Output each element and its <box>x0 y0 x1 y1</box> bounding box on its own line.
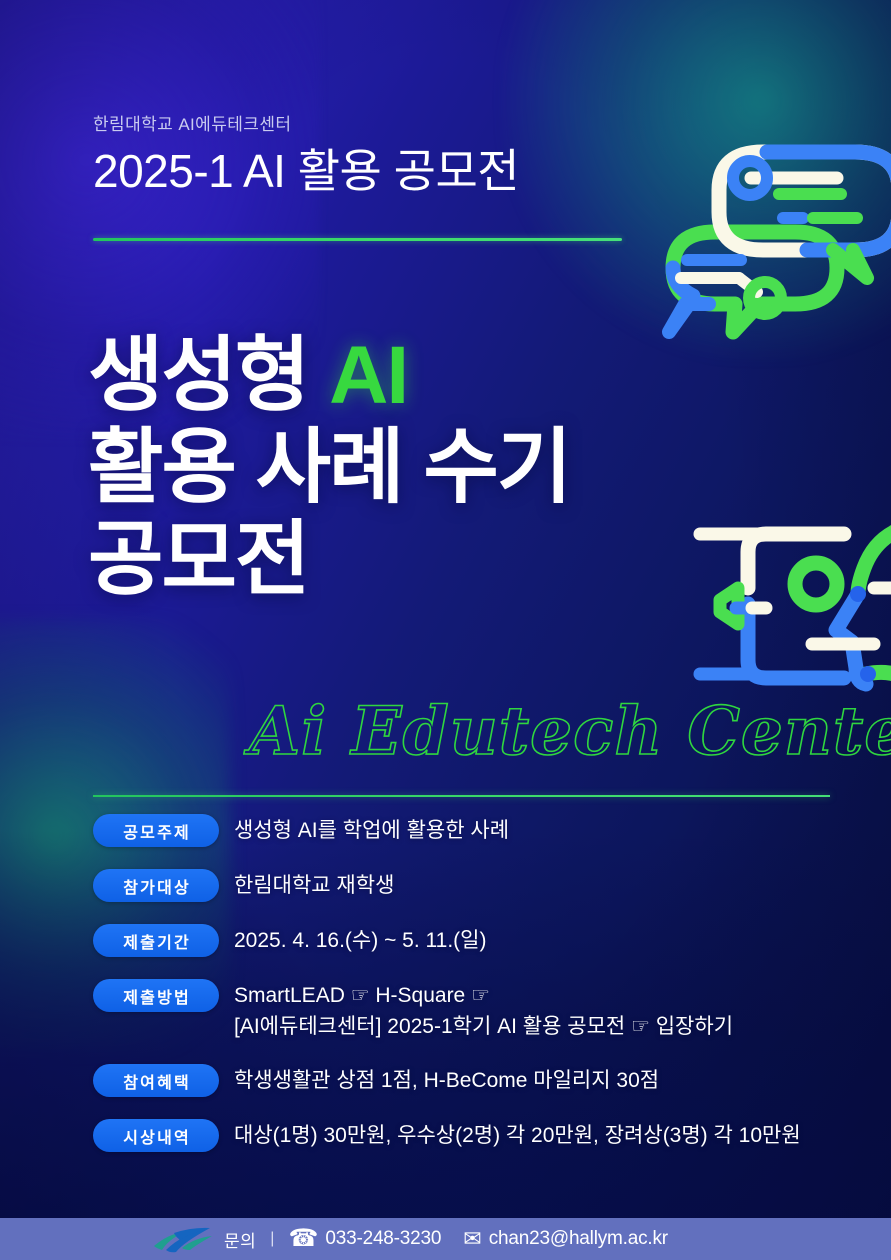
poster-canvas: 한림대학교 AI에듀테크센터 2025-1 AI 활용 공모전 생성형 AI 활… <box>0 0 891 1260</box>
info-row-subject: 공모주제 생성형 AI를 학업에 활용한 사례 <box>93 814 863 847</box>
page-title: 2025-1 AI 활용 공모전 <box>93 146 793 198</box>
info-label-eligibility: 참가대상 <box>93 869 219 902</box>
info-list: 공모주제 생성형 AI를 학업에 활용한 사례 참가대상 한림대학교 재학생 제… <box>93 814 863 1152</box>
info-label-period: 제출기간 <box>93 924 219 957</box>
info-value-subject: 생성형 AI를 학업에 활용한 사례 <box>234 814 509 846</box>
organization-label: 한림대학교 AI에듀테크센터 <box>93 110 793 135</box>
hero-line-1-text: 생성형 <box>88 330 329 421</box>
footer-separator: | <box>270 1230 274 1248</box>
hero-accent-ai: AI <box>329 330 407 421</box>
info-value-period: 2025. 4. 16.(수) ~ 5. 11.(일) <box>234 924 486 956</box>
info-value-method-line1: SmartLEAD ☞ H-Square ☞ <box>234 984 490 1007</box>
hallym-wave-logo-icon <box>152 1224 214 1254</box>
info-row-method: 제출방법 SmartLEAD ☞ H-Square ☞ [AI에듀테크센터] 2… <box>93 979 863 1042</box>
info-row-benefit: 참여혜택 학생생활관 상점 1점, H-BeCome 마일리지 30점 <box>93 1064 863 1097</box>
telephone-icon: ☎ <box>288 1227 318 1251</box>
info-label-benefit: 참여혜택 <box>93 1064 219 1097</box>
info-label-method: 제출방법 <box>93 979 219 1012</box>
info-value-eligibility: 한림대학교 재학생 <box>234 869 394 901</box>
footer-bar: 문의 | ☎ 033-248-3230 ✉ chan23@hallym.ac.k… <box>0 1218 891 1260</box>
header-divider <box>93 238 622 241</box>
footer-contact-group: 문의 | ☎ 033-248-3230 ✉ chan23@hallym.ac.k… <box>152 1224 668 1254</box>
hero-title-block: 생성형 AI 활용 사례 수기 공모전 <box>88 330 808 605</box>
footer-contact-label: 문의 <box>224 1227 256 1252</box>
hero-line-3: 공모전 <box>88 514 808 606</box>
footer-phone[interactable]: 033-248-3230 <box>325 1228 441 1250</box>
hero-line-1: 생성형 AI <box>88 330 808 422</box>
header-block: 한림대학교 AI에듀테크센터 2025-1 AI 활용 공모전 <box>93 110 793 198</box>
hero-line-2: 활용 사례 수기 <box>88 422 808 514</box>
section-divider <box>93 795 830 797</box>
envelope-icon: ✉ <box>463 1228 481 1250</box>
footer-email[interactable]: chan23@hallym.ac.kr <box>489 1228 668 1250</box>
info-row-prize: 시상내역 대상(1명) 30만원, 우수상(2명) 각 20만원, 장려상(3명… <box>93 1119 863 1152</box>
info-row-eligibility: 참가대상 한림대학교 재학생 <box>93 869 863 902</box>
script-logo: Ai Edutech Center <box>243 694 875 772</box>
info-label-prize: 시상내역 <box>93 1119 219 1152</box>
info-value-method-line2: [AI에듀테크센터] 2025-1학기 AI 활용 공모전 ☞ 입장하기 <box>234 1011 733 1042</box>
info-value-method: SmartLEAD ☞ H-Square ☞ [AI에듀테크센터] 2025-1… <box>234 979 733 1042</box>
info-value-prize: 대상(1명) 30만원, 우수상(2명) 각 20만원, 장려상(3명) 각 1… <box>234 1119 801 1151</box>
info-value-benefit: 학생생활관 상점 1점, H-BeCome 마일리지 30점 <box>234 1064 659 1096</box>
info-label-subject: 공모주제 <box>93 814 219 847</box>
script-logo-text: Ai Edutech Center <box>243 692 891 770</box>
info-row-period: 제출기간 2025. 4. 16.(수) ~ 5. 11.(일) <box>93 924 863 957</box>
